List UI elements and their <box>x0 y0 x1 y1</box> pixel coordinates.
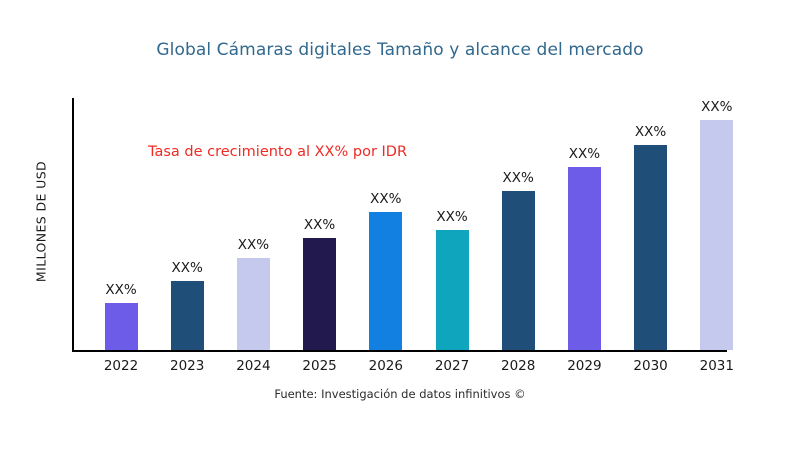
bar-2026 <box>369 212 402 350</box>
x-axis-line <box>72 350 727 352</box>
x-tick-label-2031: 2031 <box>677 358 757 374</box>
y-axis-line <box>72 98 74 350</box>
growth-rate-annotation: Tasa de crecimiento al XX% por IDR <box>148 144 407 160</box>
bar-2031 <box>700 120 733 350</box>
bar-2029 <box>568 167 601 350</box>
bar-2023 <box>171 281 204 350</box>
bar-value-label-2022: XX% <box>81 282 161 298</box>
bar-value-label-2031: XX% <box>677 99 757 115</box>
bar-value-label-2030: XX% <box>611 124 691 140</box>
bar-chart: Global Cámaras digitales Tamaño y alcanc… <box>0 0 800 450</box>
bar-value-label-2025: XX% <box>280 217 360 233</box>
bar-value-label-2029: XX% <box>544 146 624 162</box>
y-axis-title: MILLONES DE USD <box>34 102 49 342</box>
bar-value-label-2023: XX% <box>147 260 227 276</box>
bar-2027 <box>436 230 469 350</box>
bar-2024 <box>237 258 270 350</box>
bar-value-label-2028: XX% <box>478 170 558 186</box>
source-note: Fuente: Investigación de datos infinitiv… <box>0 387 800 401</box>
bar-value-label-2027: XX% <box>412 209 492 225</box>
bar-2028 <box>502 191 535 350</box>
bar-2030 <box>634 145 667 350</box>
bar-2025 <box>303 238 336 350</box>
bar-2022 <box>105 303 138 350</box>
chart-title: Global Cámaras digitales Tamaño y alcanc… <box>0 40 800 60</box>
bar-value-label-2024: XX% <box>213 237 293 253</box>
bar-value-label-2026: XX% <box>346 191 426 207</box>
